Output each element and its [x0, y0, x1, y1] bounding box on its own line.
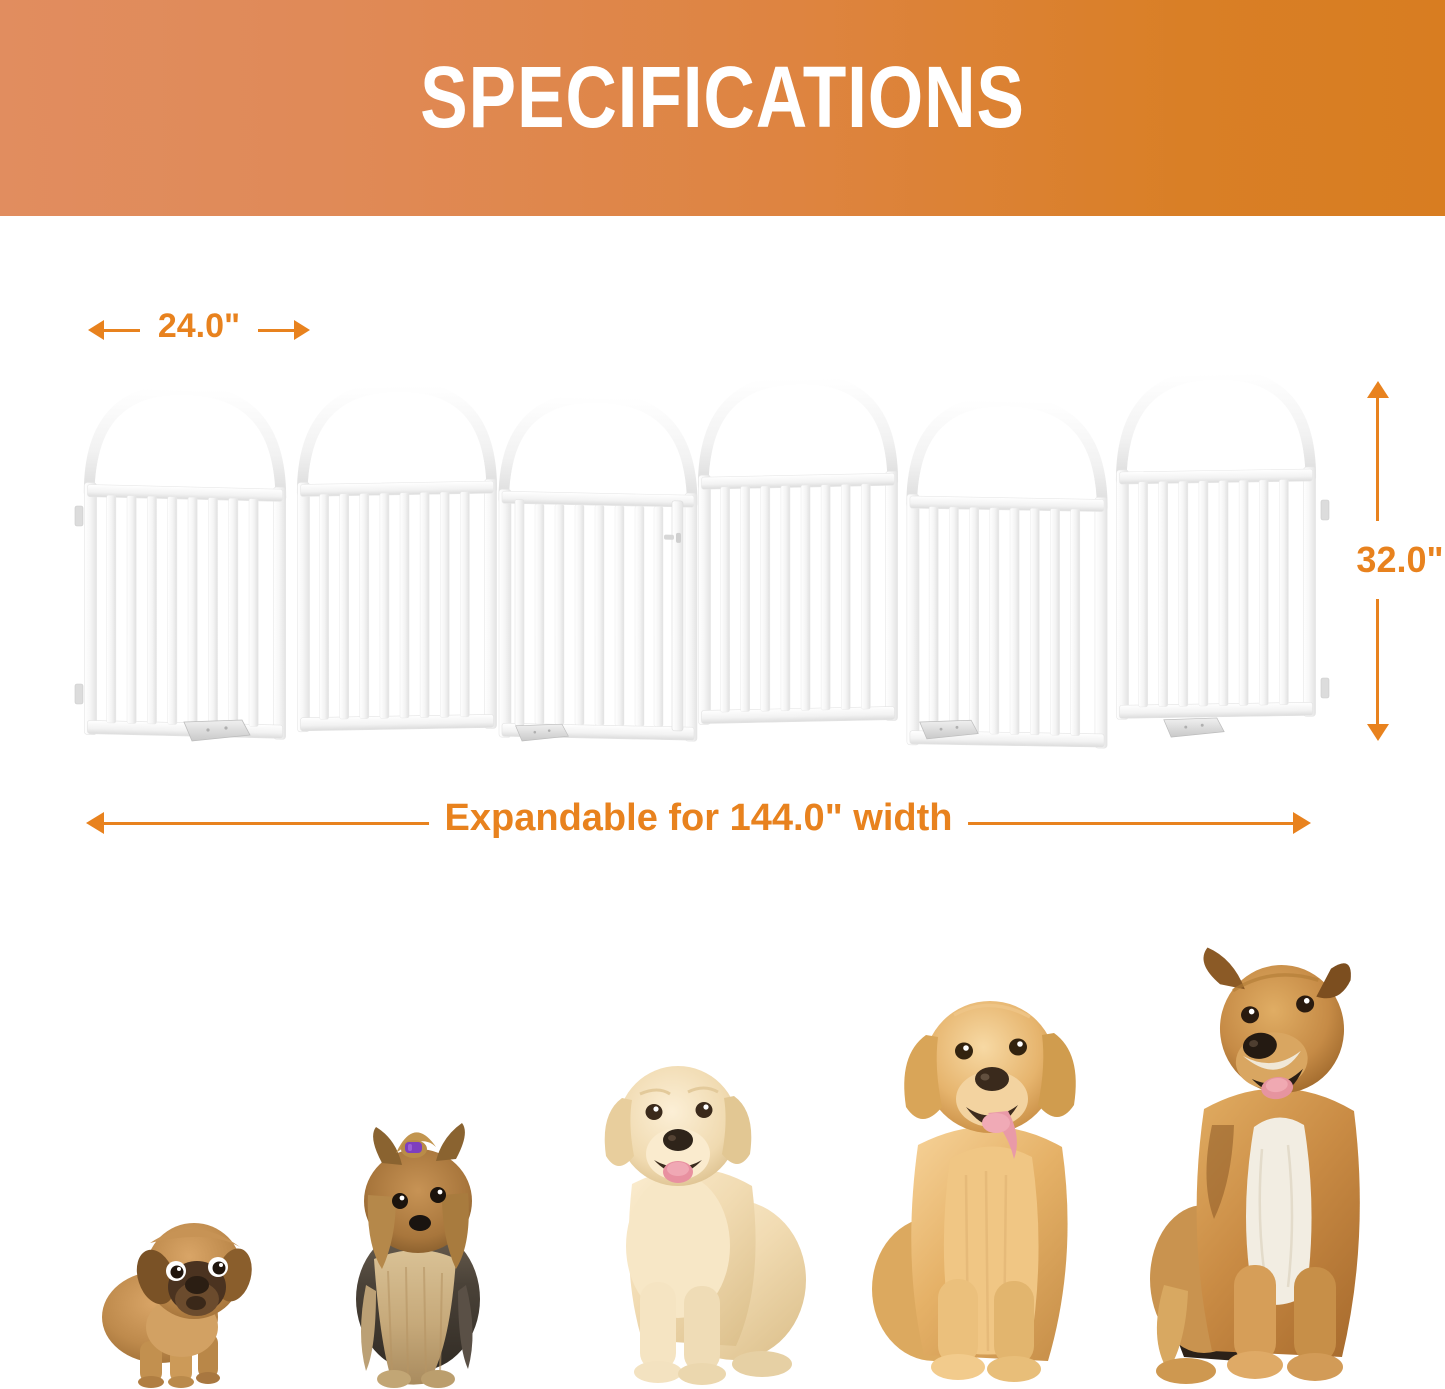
product-dimension-diagram: 24.0"	[0, 216, 1445, 876]
dimension-total-width: Expandable for 144.0" width	[86, 801, 1311, 847]
dimension-total-width-label: Expandable for 144.0" width	[429, 797, 969, 840]
gate-panel-5	[907, 399, 1107, 748]
dimension-panel-width-label: 24.0"	[140, 307, 258, 346]
dimension-height: 32.0"	[1355, 381, 1445, 741]
gate-panel-1	[75, 387, 286, 741]
gate-panel-4	[698, 377, 897, 725]
dimension-line-top	[1376, 395, 1379, 521]
dimension-line-bottom	[1376, 599, 1379, 725]
arrow-head-down-icon	[1367, 724, 1389, 741]
dimension-height-label: 32.0"	[1345, 521, 1445, 599]
dog-size-comparison-row	[0, 876, 1445, 1389]
arrow-head-right-icon	[294, 320, 310, 340]
header-banner: SPECIFICATIONS	[0, 0, 1445, 216]
page-title: SPECIFICATIONS	[130, 52, 1315, 143]
gate-panel-3-with-door	[499, 395, 697, 741]
arrow-head-right-icon	[1293, 812, 1311, 834]
dog-cream-labrador-puppy	[566, 1034, 821, 1389]
dog-yorkshire-terrier	[310, 1109, 525, 1389]
dimension-panel-width: 24.0"	[88, 312, 310, 348]
gate-panel-6	[1116, 372, 1329, 737]
gate-panels-illustration	[62, 366, 1362, 766]
gate-panel-2	[297, 385, 496, 732]
dog-pekingese-puppy	[78, 1199, 278, 1389]
dog-golden-retriever	[862, 959, 1132, 1389]
dog-shepherd-mix	[1142, 919, 1417, 1389]
